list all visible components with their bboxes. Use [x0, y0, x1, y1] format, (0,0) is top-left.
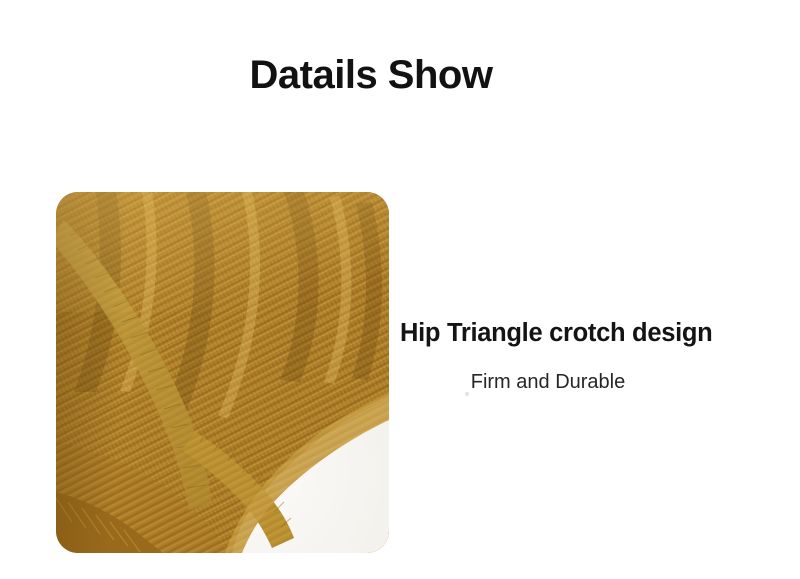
feature-text-block: Hip Triangle crotch design Firm and Dura…	[400, 318, 800, 394]
dust-speck-artifact	[465, 392, 469, 396]
knit-fabric-crotch-seam-photo	[56, 192, 389, 553]
feature-heading: Hip Triangle crotch design	[400, 318, 800, 349]
feature-subheading: Firm and Durable	[400, 370, 696, 394]
product-detail-page: Datails Show	[0, 0, 800, 579]
page-title: Datails Show	[0, 53, 742, 97]
